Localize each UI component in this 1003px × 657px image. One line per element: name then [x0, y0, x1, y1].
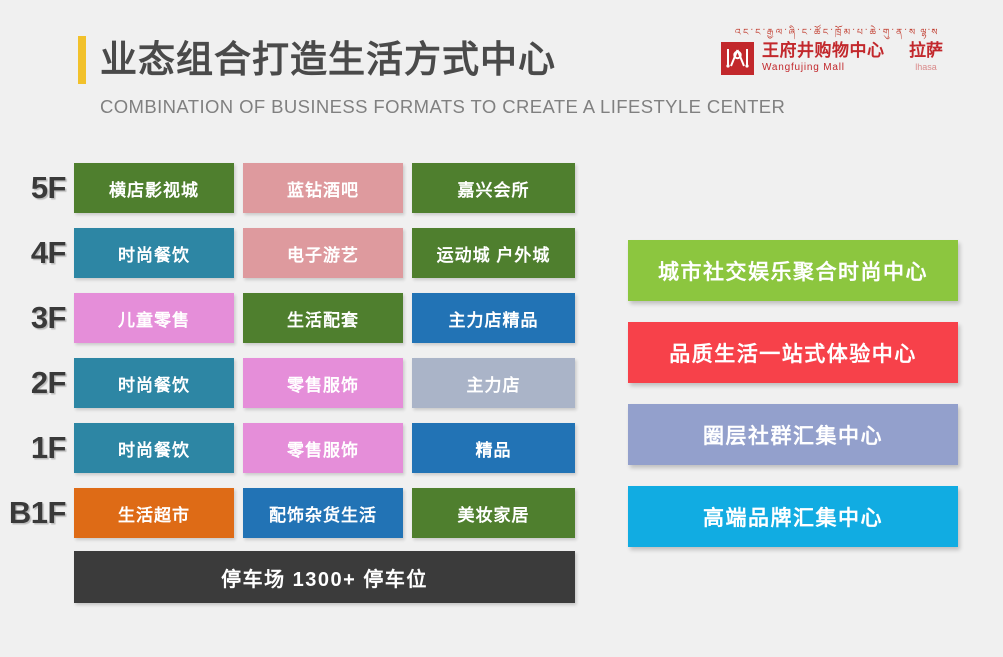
title-accent-bar	[78, 36, 86, 84]
floor-label: 5F	[0, 170, 74, 206]
floor-tenant-cell[interactable]: 嘉兴会所	[412, 163, 575, 213]
logo-body: 王府井购物中心 Wangfujing Mall	[721, 41, 885, 75]
floor-tenant-cell[interactable]: 主力店	[412, 358, 575, 408]
floor-tenant-cell[interactable]: 电子游艺	[243, 228, 403, 278]
logo-city: 拉萨 lhasa	[909, 41, 943, 74]
floor-cells: 儿童零售生活配套主力店精品	[74, 293, 620, 343]
floor-label: 4F	[0, 235, 74, 271]
page-title: 业态组合打造生活方式中心	[100, 36, 556, 84]
logo-tibetan-script-right: ལྷ་ས	[920, 27, 939, 39]
positioning-callout[interactable]: 圈层社群汇集中心	[628, 404, 958, 465]
logo-name-cn: 王府井购物中心	[762, 41, 885, 61]
floor-tenant-cell[interactable]: 运动城 户外城	[412, 228, 575, 278]
floor-directory: 5F横店影视城蓝钻酒吧嘉兴会所4F时尚餐饮电子游艺运动城 户外城3F儿童零售生活…	[0, 160, 620, 603]
positioning-callout[interactable]: 高端品牌汇集中心	[628, 486, 958, 547]
logo-city-en: lhasa	[909, 61, 943, 74]
floor-tenant-cell[interactable]: 主力店精品	[412, 293, 575, 343]
floor-tenant-cell[interactable]: 精品	[412, 423, 575, 473]
floor-tenant-cell[interactable]: 横店影视城	[74, 163, 234, 213]
floor-label: 1F	[0, 430, 74, 466]
brand-logo: འང་ང་རྒྱལ་ཞི་ང་ཚོང་ཁྲོམ་པ་ཆེ་གུ་ན་ས ལྷ་ས…	[721, 27, 945, 83]
floor-tenant-cell[interactable]: 儿童零售	[74, 293, 234, 343]
floor-cells: 时尚餐饮零售服饰精品	[74, 423, 620, 473]
floor-tenant-cell[interactable]: 时尚餐饮	[74, 423, 234, 473]
floor-row: 1F时尚餐饮零售服饰精品	[0, 420, 620, 476]
logo-city-cn: 拉萨	[909, 41, 943, 61]
floor-tenant-cell[interactable]: 零售服饰	[243, 423, 403, 473]
floor-cells: 时尚餐饮电子游艺运动城 户外城	[74, 228, 620, 278]
floor-row: 5F横店影视城蓝钻酒吧嘉兴会所	[0, 160, 620, 216]
floor-row: 2F时尚餐饮零售服饰主力店	[0, 355, 620, 411]
floor-tenant-cell[interactable]: 时尚餐饮	[74, 228, 234, 278]
parking-bar: 停车场 1300+ 停车位	[74, 551, 575, 603]
logo-tibetan-script-left: འང་ང་རྒྱལ་ཞི་ང་ཚོང་ཁྲོམ་པ་ཆེ་གུ་ན་ས	[735, 27, 918, 39]
floor-row: 3F儿童零售生活配套主力店精品	[0, 290, 620, 346]
wangfujing-logo-icon	[721, 42, 754, 75]
floor-tenant-cell[interactable]: 配饰杂货生活	[243, 488, 403, 538]
title-block: 业态组合打造生活方式中心 COMBINATION OF BUSINESS FOR…	[78, 36, 785, 118]
title-row: 业态组合打造生活方式中心	[78, 36, 785, 84]
page-subtitle: COMBINATION OF BUSINESS FORMATS TO CREAT…	[100, 96, 785, 118]
floor-tenant-cell[interactable]: 生活配套	[243, 293, 403, 343]
page-header: 业态组合打造生活方式中心 COMBINATION OF BUSINESS FOR…	[0, 0, 1003, 140]
floor-tenant-cell[interactable]: 美妆家居	[412, 488, 575, 538]
positioning-callout[interactable]: 品质生活一站式体验中心	[628, 322, 958, 383]
positioning-callouts: 城市社交娱乐聚合时尚中心品质生活一站式体验中心圈层社群汇集中心高端品牌汇集中心	[628, 240, 958, 568]
floor-tenant-cell[interactable]: 蓝钻酒吧	[243, 163, 403, 213]
floor-cells: 横店影视城蓝钻酒吧嘉兴会所	[74, 163, 620, 213]
floor-cells: 生活超市配饰杂货生活美妆家居	[74, 488, 620, 538]
floor-row: 4F时尚餐饮电子游艺运动城 户外城	[0, 225, 620, 281]
floor-tenant-cell[interactable]: 生活超市	[74, 488, 234, 538]
logo-name-en: Wangfujing Mall	[762, 61, 885, 74]
floor-label: 3F	[0, 300, 74, 336]
floor-tenant-cell[interactable]: 零售服饰	[243, 358, 403, 408]
positioning-callout[interactable]: 城市社交娱乐聚合时尚中心	[628, 240, 958, 301]
floor-label: B1F	[0, 495, 74, 531]
floor-row: B1F生活超市配饰杂货生活美妆家居	[0, 485, 620, 541]
floor-label: 2F	[0, 365, 74, 401]
floor-tenant-cell[interactable]: 时尚餐饮	[74, 358, 234, 408]
floor-cells: 时尚餐饮零售服饰主力店	[74, 358, 620, 408]
logo-text: 王府井购物中心 Wangfujing Mall	[762, 41, 885, 74]
